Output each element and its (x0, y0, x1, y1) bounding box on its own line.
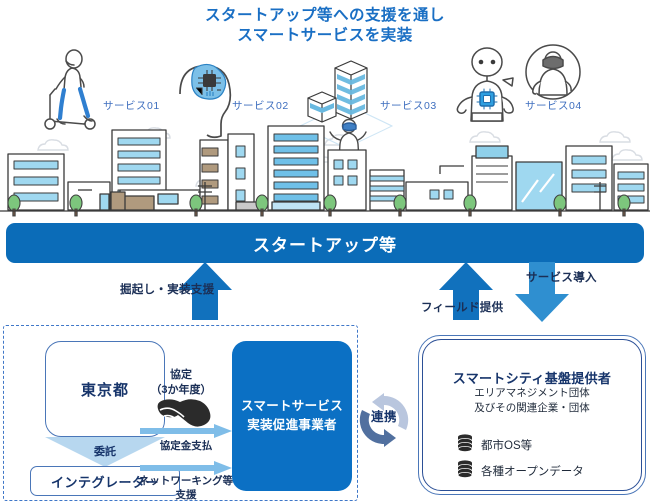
smart-city-platform-provider-box: スマートシティ基盤提供者 エリアマネジメント団体 及びその関連企業・団体 都市O… (418, 335, 646, 495)
promoter-line-1: スマートサービス (241, 397, 343, 416)
cityscape-illustration (0, 126, 650, 216)
platform-item-label-0: 都市OS等 (481, 437, 532, 453)
payment-arrow-icon (140, 424, 232, 438)
database-icon (457, 434, 473, 452)
agreement-line-1: 協定 (140, 368, 222, 383)
itaku-label: 委託 (60, 443, 150, 459)
database-icon (457, 460, 473, 478)
platform-sub-1: エリアマネジメント団体 (419, 386, 645, 401)
robot-vr-person-icon (457, 48, 513, 121)
networking-line-2: 支援 (130, 488, 242, 502)
title-line-1: スタートアップ等への支援を通し (0, 6, 650, 26)
platform-sub-2: 及びその関連企業・団体 (419, 401, 645, 416)
startup-banner: スタートアップ等 (6, 223, 644, 263)
service-label-02: サービス02 (232, 98, 289, 113)
cityscape-scene: サービス01 サービス02 サービス03 サービス04 (0, 34, 650, 230)
service-label-04: サービス04 (525, 98, 582, 113)
platform-provider-subtitle: エリアマネジメント団体 及びその関連企業・団体 (419, 386, 645, 416)
agreement-label: 協定 （3か年度） (140, 368, 222, 398)
arrow-label-service-intro: サービス導入 (526, 269, 597, 285)
scene-svg (0, 34, 650, 230)
networking-arrow-icon (140, 461, 232, 475)
infographic-root: スタートアップ等への支援を通し スマートサービスを実装 (0, 0, 650, 503)
networking-label: ネットワーキング等 支援 (130, 474, 242, 502)
brain-ai-chip-icon (180, 64, 230, 137)
vr-person-bubble-icon (503, 45, 580, 99)
platform-item-label-1: 各種オープンデータ (481, 463, 584, 479)
networking-line-1: ネットワーキング等 (130, 474, 242, 488)
tokyo-metropolis-label: 東京都 (81, 379, 129, 400)
service-label-03: サービス03 (380, 98, 437, 113)
startup-banner-label: スタートアップ等 (253, 231, 397, 256)
platform-provider-title: スマートシティ基盤提供者 (419, 368, 645, 387)
service-label-01: サービス01 (103, 98, 160, 113)
smart-service-promoter-box: スマートサービス 実装促進事業者 (232, 341, 352, 491)
promoter-line-2: 実装促進事業者 (247, 416, 337, 435)
person-on-scooter-icon (45, 50, 95, 129)
payment-label: 協定金支払 (140, 439, 232, 453)
arrow-label-excavation: 掘起し・実装支援 (120, 281, 214, 297)
arrow-label-field: フィールド提供 (421, 299, 503, 315)
linkage-label: 連携 (360, 406, 408, 425)
